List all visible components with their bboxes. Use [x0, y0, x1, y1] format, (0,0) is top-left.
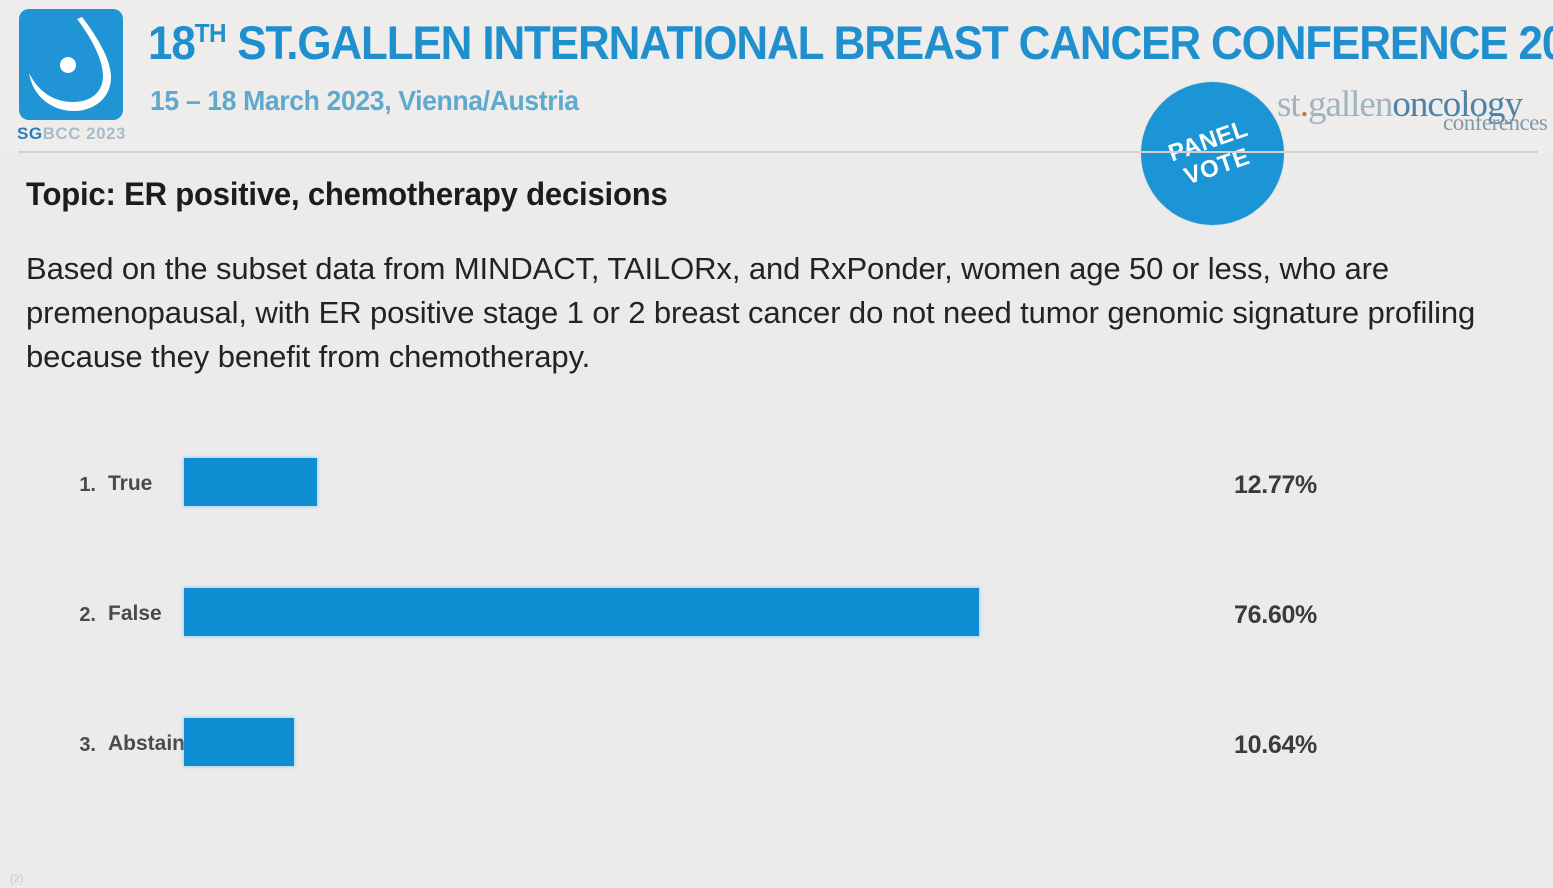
sgbcc-logo-icon [19, 9, 123, 120]
sponsor-logo-subtitle: conferences [1443, 110, 1547, 136]
bar-row: 3.Abstain10.64% [0, 718, 1553, 766]
sponsor-logo-st: st [1277, 86, 1300, 125]
bar-fill [184, 718, 294, 766]
conference-subtitle: 15 – 18 March 2023, Vienna/Austria [150, 85, 579, 117]
sponsor-logo-gallen: gallen [1308, 86, 1392, 125]
conference-title-rest: ST.GALLEN INTERNATIONAL BREAST CANCER CO… [226, 16, 1553, 69]
bar-row: 2.False76.60% [0, 588, 1553, 636]
corner-artifact: (2) [10, 874, 23, 886]
slide-header: SGBCC 2023 18TH ST.GALLEN INTERNATIONAL … [0, 0, 1553, 153]
page-title: Topic: ER positive, chemotherapy decisio… [26, 176, 668, 213]
logo-caption-sg: SG [17, 124, 43, 143]
bar-row-label: True [108, 472, 174, 496]
panel-vote-slide: SGBCC 2023 18TH ST.GALLEN INTERNATIONAL … [0, 0, 1553, 888]
bar-track [184, 718, 1222, 766]
bar-row-index: 3. [62, 734, 96, 757]
panel-vote-badge: PANEL VOTE [1141, 82, 1284, 225]
conference-title-ordinal: TH [195, 18, 226, 48]
logo-caption: SGBCC 2023 [17, 124, 126, 144]
bar-row-label: Abstain [108, 732, 174, 756]
bar-row-index: 1. [62, 474, 96, 497]
bar-fill [184, 458, 317, 506]
question-text: Based on the subset data from MINDACT, T… [26, 247, 1496, 379]
bar-track [184, 588, 1222, 636]
bar-value-label: 12.77% [1234, 471, 1317, 500]
bar-track [184, 458, 1222, 506]
bar-value-label: 76.60% [1234, 601, 1317, 630]
conference-title-number: 18 [148, 16, 195, 69]
header-divider [18, 151, 1538, 153]
vote-results-chart: 1.True12.77%2.False76.60%3.Abstain10.64% [0, 430, 1553, 850]
logo-caption-rest: BCC 2023 [43, 124, 126, 143]
bar-value-label: 10.64% [1234, 731, 1317, 760]
bar-row-index: 2. [62, 604, 96, 627]
bar-fill [184, 588, 979, 636]
sponsor-logo-dot: . [1300, 86, 1308, 125]
bar-row-label: False [108, 602, 174, 626]
conference-title: 18TH ST.GALLEN INTERNATIONAL BREAST CANC… [148, 8, 1457, 68]
bar-row: 1.True12.77% [0, 458, 1553, 506]
